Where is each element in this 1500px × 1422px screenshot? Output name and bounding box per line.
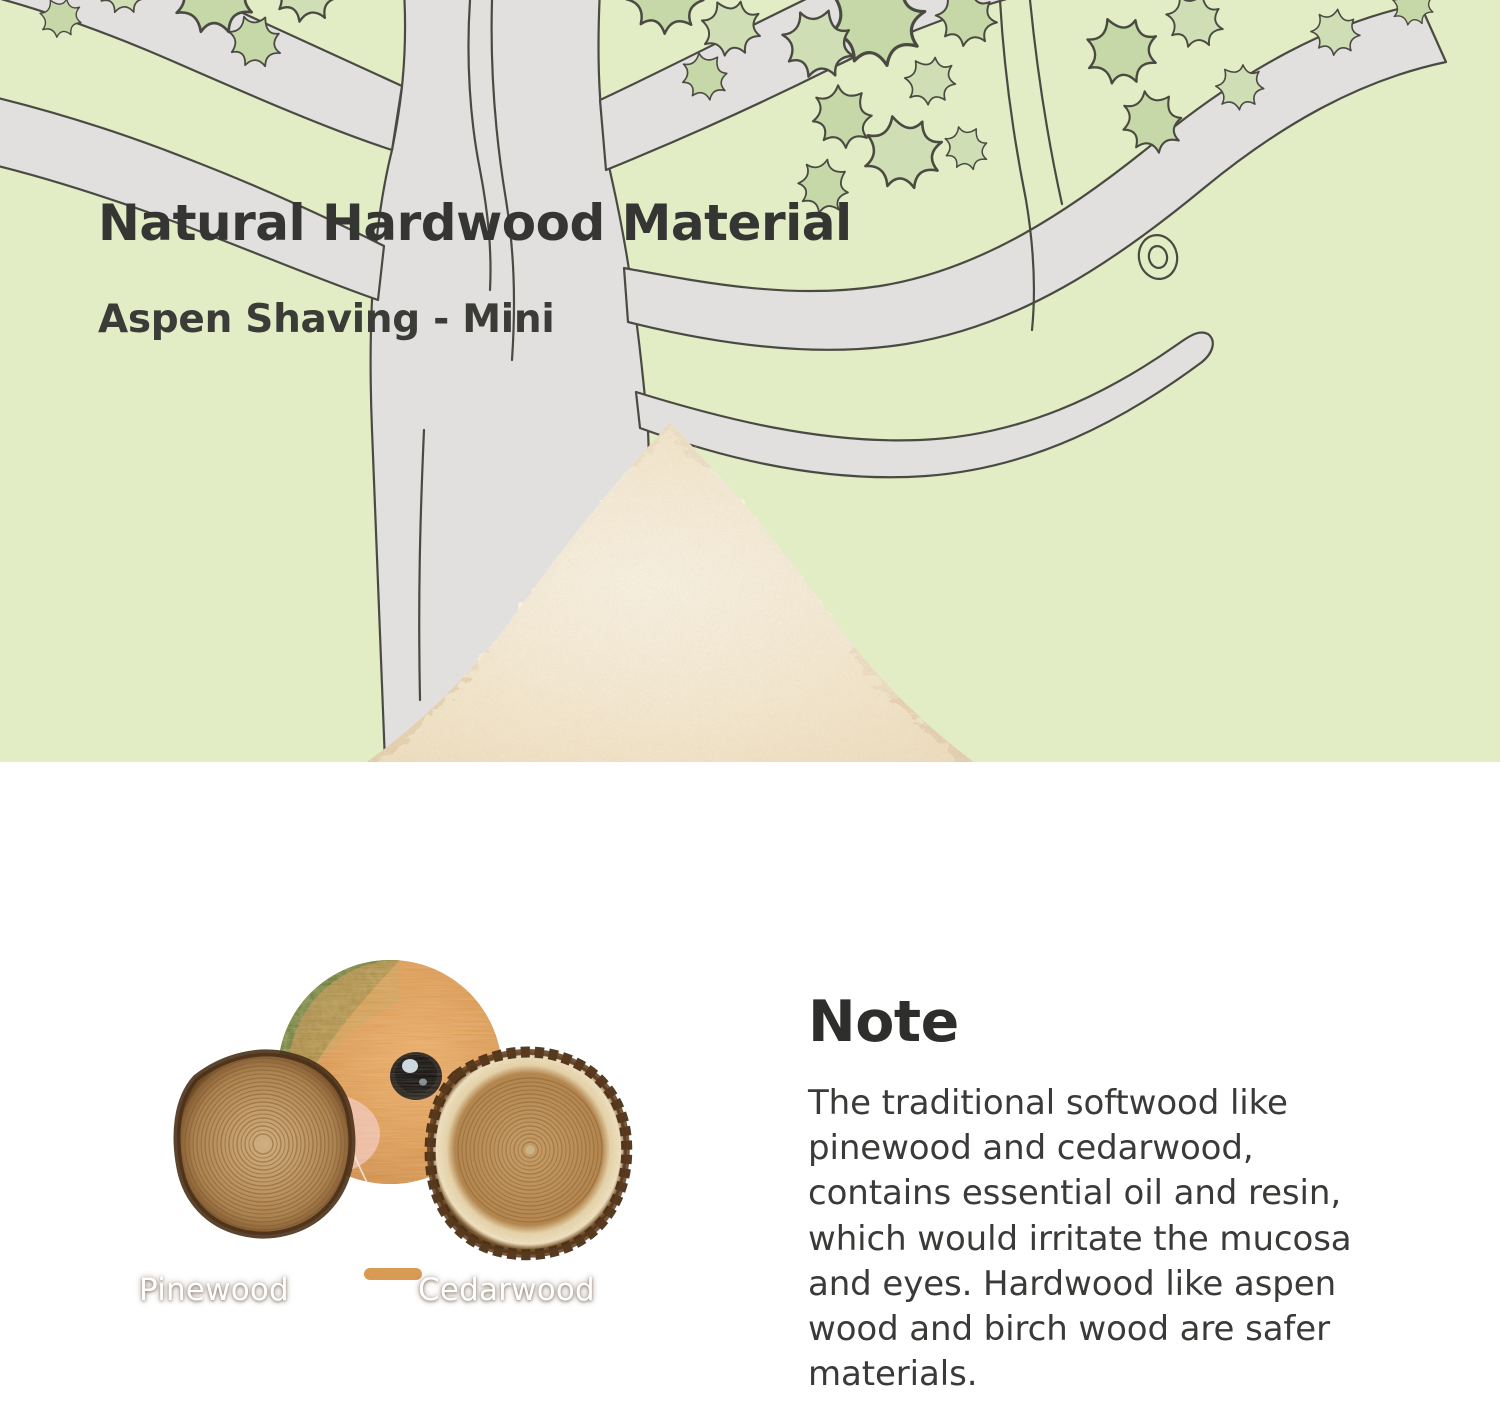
title-block: Natural Hardwood Material Aspen Shaving …: [98, 196, 998, 342]
note-body: The traditional softwood like pinewood a…: [808, 1081, 1368, 1398]
page-subtitle: Aspen Shaving - Mini: [98, 251, 998, 342]
page-title: Natural Hardwood Material: [98, 196, 998, 251]
wood-comparison-diagram: Pinewood Cedarwood: [100, 960, 680, 1390]
note-block: Note The traditional softwood like pinew…: [808, 994, 1368, 1398]
product-infographic: .br{fill:#e2dfdf;stroke:#4a4a42;stroke-w…: [0, 0, 1500, 1422]
diagram-graphic: [100, 960, 680, 1390]
connector-bar: [364, 1268, 422, 1280]
note-heading: Note: [808, 994, 1368, 1051]
bottom-section: Pinewood Cedarwood Note The traditional …: [0, 762, 1500, 1422]
